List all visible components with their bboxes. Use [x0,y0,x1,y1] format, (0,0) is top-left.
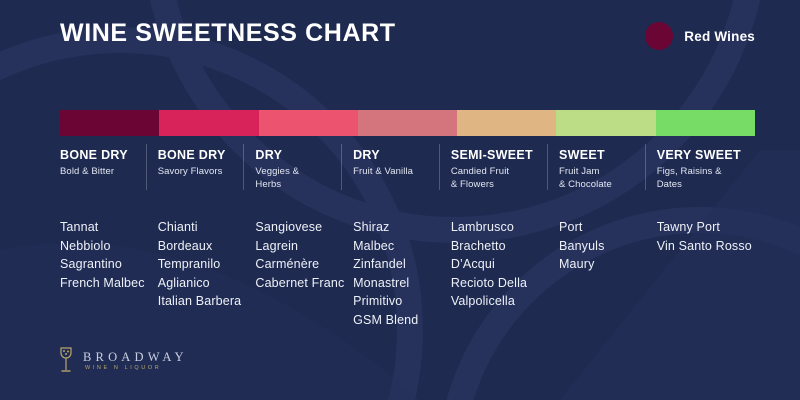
wine-list-item: Primitivo [353,292,418,311]
wine-list-item: Lambrusco [451,218,527,237]
wine-list-item: Malbec [353,237,418,256]
bar-segment [556,110,655,136]
wine-list: Tawny PortVin Santo Rosso [657,218,752,255]
category-name: VERY SWEET [657,148,741,163]
wine-list-item: D’Acqui [451,255,527,274]
category-description: Fruit & Vanilla [353,166,425,179]
bar-segment [60,110,159,136]
category-name: DRY [255,148,327,163]
wine-list-item: French Malbec [60,274,145,293]
category-column: VERY SWEETFigs, Raisins & DatesTawny Por… [645,136,755,191]
wine-list: LambruscoBrachettoD’AcquiRecioto DellaVa… [451,218,527,311]
category-column: BONE DRYSavory FlavorsChiantiBordeauxTem… [146,136,244,191]
category-name: BONE DRY [158,148,230,163]
wine-list-item: Tannat [60,218,145,237]
wine-list-item: Carménère [255,255,344,274]
wine-list-item: Banyuls [559,237,605,256]
wine-list-item: Zinfandel [353,255,418,274]
wine-list-item: Tempranilo [158,255,242,274]
poster-canvas: WINE SWEETNESS CHART Red Wines BONE DRYB… [0,0,800,400]
wine-list-item: Aglianico [158,274,242,293]
category-name: DRY [353,148,425,163]
bar-segment [358,110,457,136]
wine-list: ShirazMalbecZinfandelMonastrelPrimitivoG… [353,218,418,329]
category-description: Savory Flavors [158,166,230,179]
category-description: Bold & Bitter [60,166,132,179]
category-description: Veggies & Herbs [255,166,327,191]
brand-logo: BROADWAY WINE N LIQUOR [58,346,188,376]
wine-list-item: Valpolicella [451,292,527,311]
sweetness-gradient-bar [60,110,755,136]
wine-list: TannatNebbioloSagrantinoFrench Malbec [60,218,145,292]
wine-list-item: Monastrel [353,274,418,293]
wine-list: ChiantiBordeauxTempraniloAglianicoItalia… [158,218,242,311]
legend-label: Red Wines [684,29,755,44]
legend: Red Wines [645,22,755,50]
red-wines-swatch-icon [645,22,673,50]
category-name: BONE DRY [60,148,132,163]
category-name: SWEET [559,148,631,163]
category-column: DRYVeggies & HerbsSangioveseLagreinCarmé… [243,136,341,191]
category-description: Fruit Jam& Chocolate [559,166,631,191]
wine-list-item: Chianti [158,218,242,237]
category-description: Candied Fruit& Flowers [451,166,533,191]
category-columns: BONE DRYBold & BitterTannatNebbioloSagra… [60,136,755,191]
bar-segment [259,110,358,136]
wine-list: PortBanyulsMaury [559,218,605,274]
wine-list-item: Sangiovese [255,218,344,237]
category-column: SEMI-SWEETCandied Fruit& FlowersLambrusc… [439,136,547,191]
wine-list-item: Recioto Della [451,274,527,293]
page-title: WINE SWEETNESS CHART [60,19,396,48]
logo-name: BROADWAY [83,351,188,364]
category-column: SWEETFruit Jam& ChocolatePortBanyulsMaur… [547,136,645,191]
wine-list: SangioveseLagreinCarménèreCabernet Franc [255,218,344,292]
category-column: BONE DRYBold & BitterTannatNebbioloSagra… [60,136,146,191]
category-description: Figs, Raisins & Dates [657,166,741,191]
sweetness-chart: BONE DRYBold & BitterTannatNebbioloSagra… [60,110,755,191]
wine-list-item: Vin Santo Rosso [657,237,752,256]
wine-list-item: Tawny Port [657,218,752,237]
category-column: DRYFruit & VanillaShirazMalbecZinfandelM… [341,136,439,191]
logo-text: BROADWAY WINE N LIQUOR [83,351,188,372]
wine-list-item: Lagrein [255,237,344,256]
logo-subtitle: WINE N LIQUOR [85,366,188,372]
wine-list-item: Nebbiolo [60,237,145,256]
wine-list-item: Maury [559,255,605,274]
wine-list-item: Shiraz [353,218,418,237]
wine-list-item: Sagrantino [60,255,145,274]
wine-glass-icon [58,346,74,376]
wine-list-item: Cabernet Franc [255,274,344,293]
bar-segment [457,110,556,136]
wine-list-item: Bordeaux [158,237,242,256]
wine-list-item: Brachetto [451,237,527,256]
bar-segment [159,110,258,136]
category-name: SEMI-SWEET [451,148,533,163]
wine-list-item: Port [559,218,605,237]
bar-segment [656,110,755,136]
wine-list-item: Italian Barbera [158,292,242,311]
wine-list-item: GSM Blend [353,311,418,330]
